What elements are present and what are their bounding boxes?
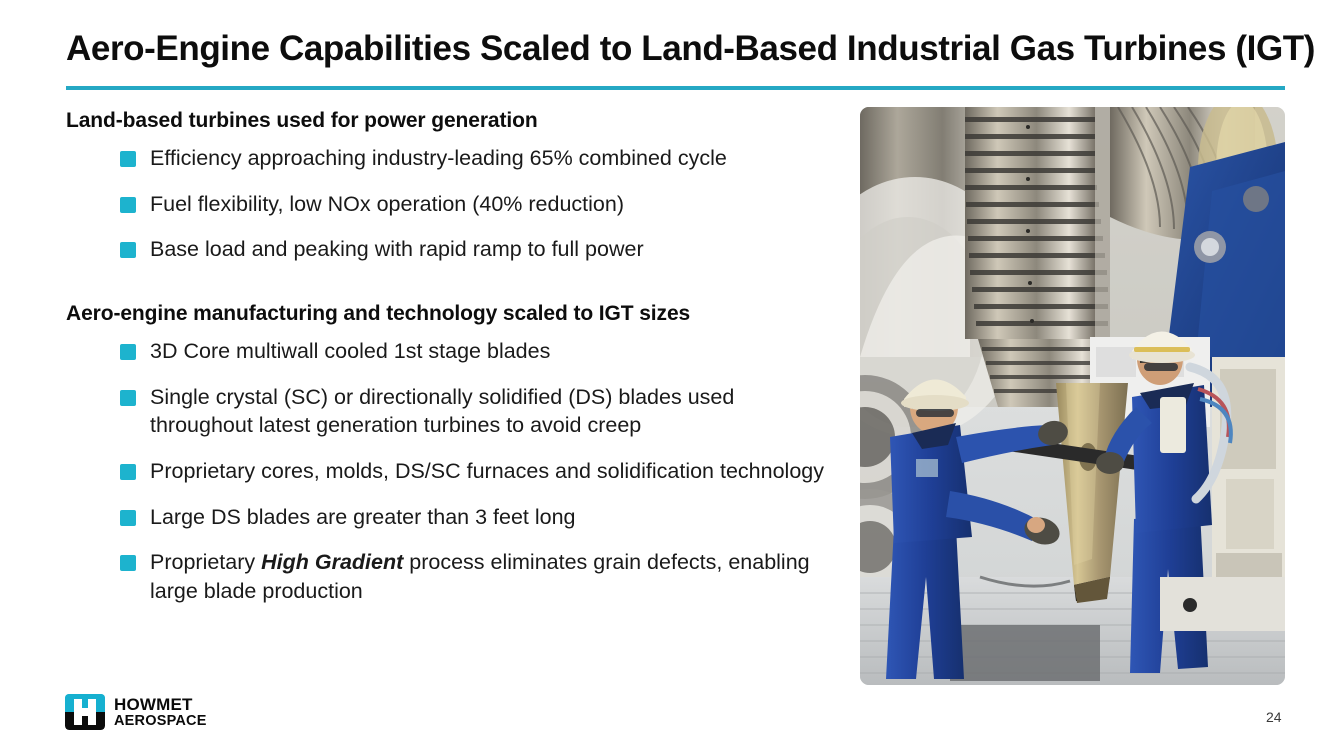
list-item: Efficiency approaching industry-leading … bbox=[66, 144, 841, 173]
bullet-square-icon bbox=[120, 151, 136, 167]
list-item: Fuel flexibility, low NOx operation (40%… bbox=[66, 190, 841, 219]
bullet-square-icon bbox=[120, 197, 136, 213]
list-item-label-rich: Proprietary High Gradient process elimin… bbox=[150, 548, 841, 605]
section-spacer bbox=[66, 264, 841, 301]
list-item-label: Fuel flexibility, low NOx operation (40%… bbox=[150, 190, 841, 219]
slide: Aero-Engine Capabilities Scaled to Land-… bbox=[0, 0, 1344, 756]
page-title: Aero-Engine Capabilities Scaled to Land-… bbox=[66, 28, 1316, 70]
list-item-label: Efficiency approaching industry-leading … bbox=[150, 144, 841, 173]
list-item: Proprietary High Gradient process elimin… bbox=[66, 548, 841, 605]
section-heading: Aero-engine manufacturing and technology… bbox=[66, 301, 841, 327]
bullet-square-icon bbox=[120, 242, 136, 258]
list-item: 3D Core multiwall cooled 1st stage blade… bbox=[66, 337, 841, 366]
text-pre: Proprietary bbox=[150, 550, 261, 574]
content-column: Land-based turbines used for power gener… bbox=[66, 108, 841, 605]
bullet-square-icon bbox=[120, 390, 136, 406]
bullet-square-icon bbox=[120, 555, 136, 571]
logo-h-crossbar bbox=[74, 708, 96, 716]
howmet-aerospace-logo: HOWMET AEROSPACE bbox=[65, 694, 207, 730]
title-divider bbox=[66, 86, 1285, 90]
logo-line-2: AEROSPACE bbox=[114, 714, 207, 729]
howmet-mark-icon bbox=[65, 694, 105, 730]
list-item: Single crystal (SC) or directionally sol… bbox=[66, 383, 841, 440]
bullet-list: Efficiency approaching industry-leading … bbox=[66, 144, 841, 264]
section-land-based-turbines: Land-based turbines used for power gener… bbox=[66, 108, 841, 264]
list-item-label: Base load and peaking with rapid ramp to… bbox=[150, 235, 841, 264]
logo-line-1: HOWMET bbox=[114, 696, 207, 713]
logo-notch-left bbox=[65, 694, 72, 700]
photo-illustration bbox=[860, 107, 1285, 685]
turbine-assembly-photo bbox=[860, 107, 1285, 685]
bullet-square-icon bbox=[120, 510, 136, 526]
bullet-square-icon bbox=[120, 344, 136, 360]
text-emphasis: High Gradient bbox=[261, 550, 403, 574]
list-item-label: Single crystal (SC) or directionally sol… bbox=[150, 383, 841, 440]
section-aero-engine-manufacturing: Aero-engine manufacturing and technology… bbox=[66, 301, 841, 605]
list-item: Proprietary cores, molds, DS/SC furnaces… bbox=[66, 457, 841, 486]
list-item-label: 3D Core multiwall cooled 1st stage blade… bbox=[150, 337, 841, 366]
list-item: Base load and peaking with rapid ramp to… bbox=[66, 235, 841, 264]
list-item: Large DS blades are greater than 3 feet … bbox=[66, 503, 841, 532]
logo-notch-right bbox=[98, 694, 105, 700]
bullet-list: 3D Core multiwall cooled 1st stage blade… bbox=[66, 337, 841, 605]
bullet-square-icon bbox=[120, 464, 136, 480]
page-number: 24 bbox=[1266, 709, 1282, 725]
list-item-label: Large DS blades are greater than 3 feet … bbox=[150, 503, 841, 532]
section-heading: Land-based turbines used for power gener… bbox=[66, 108, 841, 134]
list-item-label: Proprietary cores, molds, DS/SC furnaces… bbox=[150, 457, 841, 486]
logo-wordmark: HOWMET AEROSPACE bbox=[114, 696, 207, 729]
